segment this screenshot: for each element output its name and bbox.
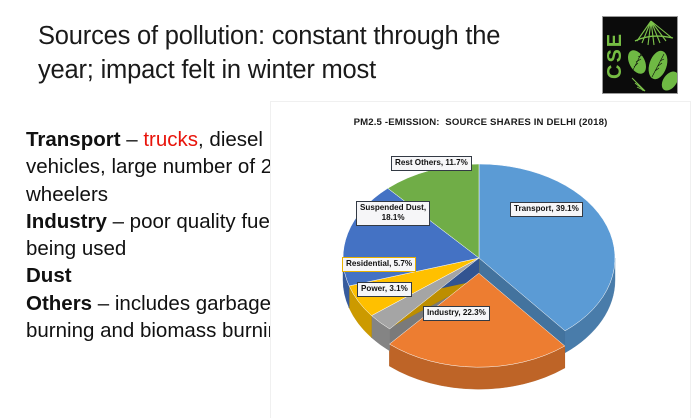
bullet-others-label: Others: [26, 292, 92, 315]
chart-title: PM2.5 -EMISSION: SOURCE SHARES IN DELHI …: [271, 117, 690, 128]
bullet-transport-dash: –: [121, 128, 144, 151]
bullet-item-transport: Transport – trucks, diesel vehicles, lar…: [26, 126, 296, 208]
bullet-item-dust: Dust: [26, 262, 296, 289]
chart-container: PM2.5 -EMISSION: SOURCE SHARES IN DELHI …: [270, 101, 691, 418]
bullet-item-industry: Industry – poor quality fuel being used: [26, 208, 296, 263]
pie-label-power: Power, 3.1%: [357, 282, 412, 297]
bullet-list: Transport – trucks, diesel vehicles, lar…: [26, 126, 296, 344]
leaf-artwork-icon: [623, 17, 677, 93]
pie-label-suspended-dust: Suspended Dust,18.1%: [356, 201, 430, 226]
bullet-transport-highlight: trucks: [143, 128, 198, 151]
pie-chart: [271, 130, 690, 418]
pie-label-transport: Transport, 39.1%: [510, 202, 583, 217]
page-title: Sources of pollution: constant through t…: [38, 20, 618, 88]
bullet-dust-label: Dust: [26, 264, 72, 287]
cse-logo: CSE: [602, 16, 678, 94]
bullet-industry-label: Industry: [26, 210, 107, 233]
bullet-transport-label: Transport: [26, 128, 121, 151]
pie-label-industry: Industry, 22.3%: [423, 306, 490, 321]
pie-label-residential: Residential, 5.7%: [342, 257, 416, 272]
pie-label-rest-others: Rest Others, 11.7%: [391, 156, 472, 171]
bullet-item-others: Others – includes garbage burning and bi…: [26, 290, 296, 345]
